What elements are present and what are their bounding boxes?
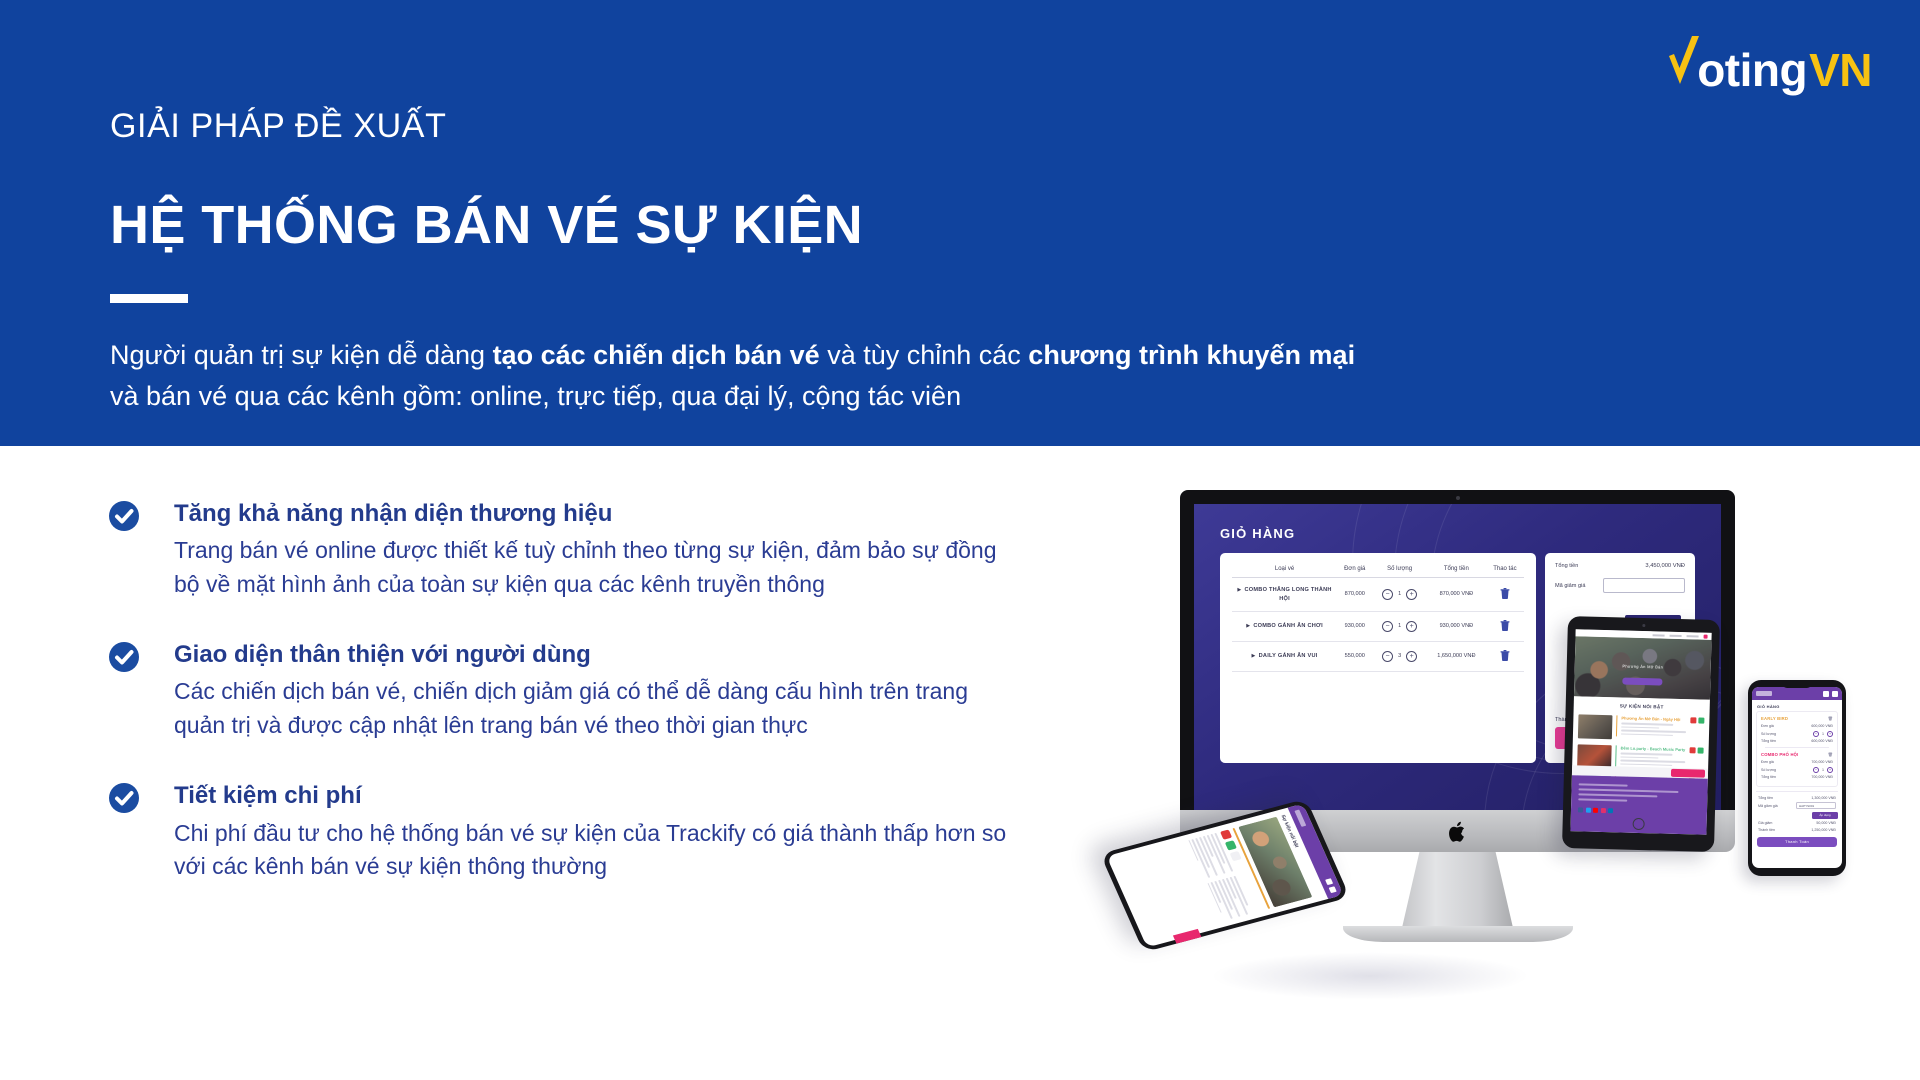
- cart-item-card: EARLY BIRD 🗑 Đơn giá 600,000 VNĐ Số lượn…: [1756, 711, 1838, 787]
- qty-decrease-button[interactable]: −: [1382, 621, 1393, 632]
- twitter-icon[interactable]: [1585, 808, 1590, 813]
- expand-caret-icon[interactable]: ▶: [1237, 587, 1241, 593]
- summary-subtotal-value: 3,450,000 VNĐ: [1645, 563, 1685, 569]
- title-underline-rule: [110, 294, 188, 303]
- cell-unit-price: 550,000: [1337, 641, 1372, 671]
- ground-shadow: [1210, 952, 1530, 1000]
- coupon-label: Mã giảm giá: [1758, 804, 1778, 808]
- event-meta-line: [1621, 722, 1673, 725]
- price-badge-green: [1698, 747, 1704, 753]
- item-total-label: Tổng tiền: [1761, 775, 1776, 779]
- qty-increase-button[interactable]: +: [1827, 767, 1833, 773]
- phone-screen: GIỎ HÀNG EARLY BIRD 🗑 Đơn giá 600,000 VN…: [1752, 687, 1842, 868]
- nav-link-placeholder[interactable]: [1687, 635, 1699, 637]
- cell-ticket-name: ▶COMBO THĂNG LONG THÀNH HỘI: [1232, 578, 1337, 612]
- trash-icon[interactable]: [1500, 620, 1510, 631]
- youtube-icon[interactable]: [1593, 808, 1598, 813]
- cell-actions: [1486, 578, 1524, 612]
- item-total-value: 600,000 VNĐ: [1811, 739, 1833, 743]
- coupon-input[interactable]: HAPYS001: [1796, 802, 1836, 809]
- table-row: ▶DAILY GÁNH ĂN VUI 550,000 − 3 +: [1232, 641, 1524, 671]
- th-ticket-type: Loại vé: [1232, 563, 1337, 578]
- event-list-item[interactable]: Phương Án Mở Bán - Ngày Hội: [1573, 711, 1710, 745]
- event-thumbnail: [1578, 714, 1613, 739]
- cell-row-total: 1,650,000 VNĐ: [1427, 641, 1486, 671]
- th-actions: Thao tác: [1486, 563, 1524, 578]
- divider: [1756, 791, 1838, 792]
- linkedin-icon[interactable]: [1608, 808, 1613, 813]
- tablet-device-mockup: Phương Án Mở Bán SỰ KIỆN NỔI BẬT Phương …: [1562, 616, 1720, 852]
- item-total-label: Tổng tiền: [1761, 739, 1776, 743]
- ticket-name-text: DAILY GÁNH ĂN VUI: [1259, 653, 1318, 659]
- event-price-tags: [1690, 747, 1704, 753]
- checkout-button[interactable]: Thanh Toán: [1757, 837, 1837, 847]
- cell-row-total: 870,000 VNĐ: [1427, 578, 1486, 612]
- unit-price-value: 600,000 VNĐ: [1811, 724, 1833, 728]
- footer-line: [1578, 793, 1657, 797]
- apply-coupon-button[interactable]: Áp dụng: [1812, 812, 1838, 819]
- cell-actions: [1486, 611, 1524, 641]
- qty-value: 1: [1822, 768, 1824, 772]
- check-circle-icon: [108, 500, 140, 532]
- menu-icon[interactable]: [1832, 691, 1838, 697]
- cart-item-header: EARLY BIRD 🗑: [1761, 716, 1833, 721]
- trash-icon[interactable]: [1500, 588, 1510, 599]
- brand-logo[interactable]: oting VN: [1667, 34, 1872, 94]
- table-row: ▶COMBO THĂNG LONG THÀNH HỘI 870,000 − 1 …: [1232, 578, 1524, 612]
- table-header-row: Loại vé Đơn giá Số lượng Tổng tiền Thao …: [1232, 563, 1524, 578]
- menu-icon[interactable]: [1329, 886, 1337, 893]
- cell-unit-price: 870,000: [1337, 578, 1372, 612]
- cart-page-title: GIỎ HÀNG: [1220, 526, 1695, 541]
- phone-device-mockup: GIỎ HÀNG EARLY BIRD 🗑 Đơn giá 600,000 VN…: [1748, 680, 1846, 876]
- table-row: ▶COMBO GÁNH ĂN CHƠI 930,000 − 1 +: [1232, 611, 1524, 641]
- qty-increase-button[interactable]: +: [1406, 621, 1417, 632]
- page-title: HỆ THỐNG BÁN VÉ SỰ KIỆN: [110, 194, 863, 256]
- subtitle-seg-2: và tùy chỉnh các: [820, 340, 1029, 370]
- cart-item-header: COMBO PHỐ HỘI 🗑: [1761, 752, 1833, 757]
- unit-price-label: Đơn giá: [1761, 760, 1774, 764]
- phone-tilted-device-mockup: Sự kiện nổi bật: [1100, 799, 1350, 953]
- total-label: Thành tiền: [1758, 828, 1775, 832]
- phone-discount-row: Giá giảm 50,000 VNĐ: [1752, 821, 1842, 825]
- price-badge-red: [1690, 747, 1696, 753]
- footer-line: [1579, 783, 1628, 786]
- qty-increase-button[interactable]: +: [1406, 651, 1417, 662]
- cell-row-total: 930,000 VNĐ: [1427, 611, 1486, 641]
- ticket-name-text: COMBO GÁNH ĂN CHƠI: [1253, 623, 1323, 629]
- unit-price-value: 700,000 VNĐ: [1811, 760, 1833, 764]
- phone-notch: [1782, 683, 1812, 688]
- qty-value: 3: [1398, 653, 1401, 659]
- feature-body: Chi phí đầu tư cho hệ thống bán vé sự ki…: [174, 817, 1008, 884]
- apple-logo-icon: [1449, 821, 1467, 842]
- feature-body: Trang bán vé online được thiết kế tuỳ ch…: [174, 534, 1008, 601]
- logo-text-oting: oting: [1697, 47, 1807, 93]
- eyebrow-text: GIẢI PHÁP ĐỀ XUẤT: [110, 106, 530, 147]
- header-subtitle: Người quản trị sự kiện dễ dàng tạo các c…: [110, 335, 1750, 416]
- unit-price-label: Đơn giá: [1761, 724, 1774, 728]
- coupon-input[interactable]: [1603, 578, 1685, 593]
- event-meta-line: [1621, 726, 1659, 728]
- app-logo: [1756, 691, 1772, 696]
- facebook-icon[interactable]: [1578, 807, 1583, 812]
- buy-now-button[interactable]: [1671, 769, 1705, 778]
- nav-link-placeholder[interactable]: [1670, 634, 1682, 636]
- logo-text-vn: VN: [1809, 47, 1872, 93]
- summary-coupon-row: Mã giảm giá: [1555, 578, 1685, 593]
- cart-item-unit-price-row: Đơn giá 700,000 VNĐ: [1761, 760, 1833, 764]
- cart-table: Loại vé Đơn giá Số lượng Tổng tiền Thao …: [1232, 563, 1524, 672]
- qty-label: Số lượng: [1761, 768, 1776, 772]
- event-desc-line: [1621, 729, 1686, 732]
- event-title: Đêm Lo.party - Beach Music Party: [1621, 745, 1686, 752]
- ticket-name-text: COMBO THĂNG LONG THÀNH HỘI: [1244, 587, 1331, 602]
- discount-value: 50,000 VNĐ: [1816, 821, 1836, 825]
- feature-item: Giao diện thân thiện với người dùng Các …: [108, 639, 1008, 742]
- social-icons-row: [1578, 807, 1700, 815]
- discount-label: Giá giảm: [1758, 821, 1772, 825]
- cart-item-qty-row: Số lượng − 1 +: [1761, 767, 1833, 773]
- subtitle-bold-2: chương trình khuyến mại: [1028, 340, 1355, 370]
- phone-coupon-row: Mã giảm giá HAPYS001: [1752, 802, 1842, 809]
- event-meta-line: [1620, 756, 1658, 758]
- expand-caret-icon[interactable]: ▶: [1246, 623, 1250, 629]
- cart-icon[interactable]: [1704, 634, 1708, 638]
- feature-item: Tăng khả năng nhận diện thương hiệu Tran…: [108, 498, 1008, 601]
- summary-subtotal-row: Tổng tiền 3,450,000 VNĐ: [1555, 563, 1685, 569]
- price-badge-green: [1225, 840, 1237, 850]
- coupon-label: Mã giảm giá: [1555, 583, 1585, 589]
- price-badge-neutral: [1230, 851, 1242, 861]
- cart-item-total-row: Tổng tiền 600,000 VNĐ: [1761, 739, 1833, 743]
- tablet-screen: Phương Án Mở Bán SỰ KIỆN NỔI BẬT Phương …: [1570, 629, 1711, 834]
- price-badge-red: [1690, 717, 1696, 723]
- phone-tilted-screen: Sự kiện nổi bật: [1106, 804, 1343, 948]
- total-value: 1,250,000 VNĐ: [1811, 828, 1836, 832]
- event-meta-line: [1620, 752, 1672, 755]
- cart-table-card: Loại vé Đơn giá Số lượng Tổng tiền Thao …: [1220, 553, 1536, 763]
- qty-value: 1: [1822, 732, 1824, 736]
- cell-ticket-name: ▶DAILY GÁNH ĂN VUI: [1232, 641, 1337, 671]
- feature-title: Tăng khả năng nhận diện thương hiệu: [174, 498, 1008, 530]
- subtitle-line-2: và bán vé qua các kênh gồm: online, trực…: [110, 381, 961, 411]
- footer-line: [1579, 788, 1679, 793]
- feature-title: Tiết kiệm chi phí: [174, 780, 1008, 812]
- event-desc-line: [1620, 759, 1685, 762]
- tablet-hero: Phương Án Mở Bán: [1574, 636, 1712, 700]
- slide-root: oting VN GIẢI PHÁP ĐỀ XUẤT HỆ THỐNG BÁN …: [0, 0, 1920, 1080]
- app-logo: [1295, 809, 1307, 826]
- phone-subtotal-row: Tổng tiền 1,300,000 VNĐ: [1752, 796, 1842, 800]
- qty-decrease-button[interactable]: −: [1813, 731, 1819, 737]
- subtitle-seg-1: Người quản trị sự kiện dễ dàng: [110, 340, 493, 370]
- event-price-tags: [1690, 717, 1704, 723]
- qty-value: 1: [1398, 591, 1401, 597]
- th-subtotal: Tổng tiền: [1427, 563, 1486, 578]
- check-circle-icon: [108, 641, 140, 673]
- phone-cart-title: GIỎ HÀNG: [1752, 700, 1842, 711]
- subtotal-value: 1,300,000 VNĐ: [1811, 796, 1836, 800]
- price-badge-red: [1220, 829, 1232, 839]
- device-mockup-group: GIỎ HÀNG Loại vé Đơn giá Số lượng: [1150, 470, 1910, 1080]
- price-badge-green: [1698, 717, 1704, 723]
- cart-item-qty-row: Số lượng − 1 +: [1761, 731, 1833, 737]
- item-total-value: 700,000 VNĐ: [1811, 775, 1833, 779]
- feature-body: Các chiến dịch bán vé, chiến dịch giảm g…: [174, 675, 1008, 742]
- feature-item: Tiết kiệm chi phí Chi phí đầu tư cho hệ …: [108, 780, 1008, 883]
- cell-ticket-name: ▶COMBO GÁNH ĂN CHƠI: [1232, 611, 1337, 641]
- event-title: Phương Án Mở Bán - Ngày Hội: [1621, 715, 1686, 722]
- event-desc-line: [1620, 763, 1672, 766]
- phone-total-row: Thành tiền 1,250,000 VNĐ: [1752, 828, 1842, 832]
- tablet-camera-icon: [1642, 624, 1645, 627]
- check-mark-icon: [1667, 34, 1701, 86]
- qty-increase-button[interactable]: +: [1406, 589, 1417, 600]
- header-band: oting VN GIẢI PHÁP ĐỀ XUẤT HỆ THỐNG BÁN …: [0, 0, 1920, 446]
- monitor-stand-neck: [1402, 852, 1514, 930]
- subtitle-bold-1: tạo các chiến dịch bán vé: [493, 340, 820, 370]
- check-circle-icon: [108, 782, 140, 814]
- qty-label: Số lượng: [1761, 732, 1776, 736]
- cart-item-unit-price-row: Đơn giá 600,000 VNĐ: [1761, 724, 1833, 728]
- event-desc-line: [1621, 733, 1673, 736]
- cell-quantity: − 3 +: [1372, 641, 1427, 671]
- hero-cta-button[interactable]: [1622, 677, 1662, 685]
- divider: [1765, 747, 1829, 748]
- cart-icon[interactable]: [1325, 878, 1333, 885]
- qty-decrease-button[interactable]: −: [1382, 651, 1393, 662]
- cell-quantity: − 1 +: [1372, 611, 1427, 641]
- phone-appbar: [1752, 687, 1842, 700]
- nav-link-placeholder[interactable]: [1653, 634, 1665, 636]
- qty-increase-button[interactable]: +: [1827, 731, 1833, 737]
- cell-actions: [1486, 641, 1524, 671]
- trash-icon[interactable]: [1500, 650, 1510, 661]
- cell-quantity: − 1 +: [1372, 578, 1427, 612]
- summary-subtotal-label: Tổng tiền: [1555, 563, 1578, 569]
- feature-list: Tăng khả năng nhận diện thương hiệu Tran…: [108, 498, 1008, 883]
- webcam-icon: [1456, 496, 1460, 500]
- cell-unit-price: 930,000: [1337, 611, 1372, 641]
- feature-title: Giao diện thân thiện với người dùng: [174, 639, 1008, 671]
- cart-icon[interactable]: [1823, 691, 1829, 697]
- qty-decrease-button[interactable]: −: [1382, 589, 1393, 600]
- sticky-buy-button[interactable]: [1173, 929, 1202, 944]
- th-unit-price: Đơn giá: [1337, 563, 1372, 578]
- trash-icon[interactable]: 🗑: [1828, 716, 1833, 721]
- cart-item-total-row: Tổng tiền 700,000 VNĐ: [1761, 775, 1833, 779]
- monitor-stand-base: [1343, 926, 1573, 942]
- cart-item-name: COMBO PHỐ HỘI: [1761, 752, 1799, 757]
- trash-icon[interactable]: 🗑: [1828, 752, 1833, 757]
- expand-caret-icon[interactable]: ▶: [1252, 653, 1256, 659]
- subtotal-label: Tổng tiền: [1758, 796, 1773, 800]
- th-quantity: Số lượng: [1372, 563, 1427, 578]
- qty-value: 1: [1398, 623, 1401, 629]
- footer-line: [1578, 798, 1627, 801]
- instagram-icon[interactable]: [1600, 808, 1605, 813]
- qty-decrease-button[interactable]: −: [1813, 767, 1819, 773]
- cart-item-name: EARLY BIRD: [1761, 716, 1788, 721]
